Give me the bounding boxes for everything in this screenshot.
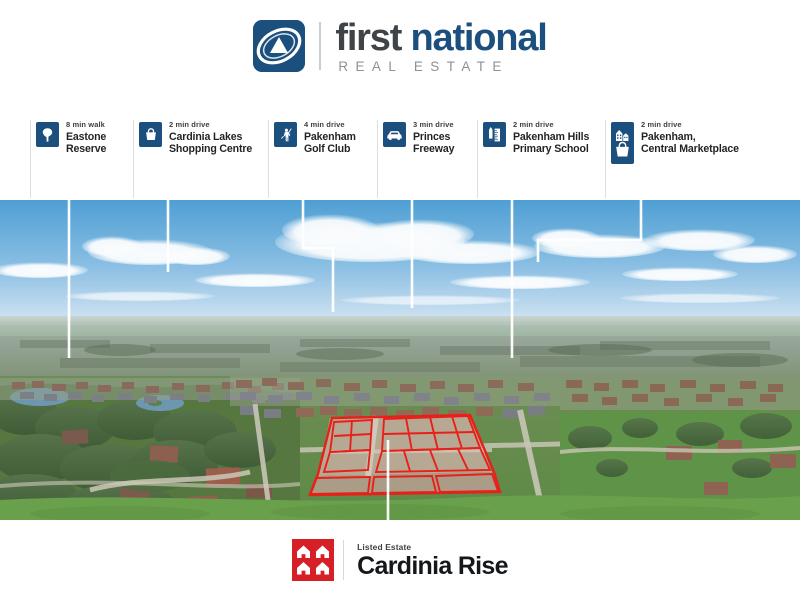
estate-kicker: Listed Estate <box>357 542 508 552</box>
poi-divider <box>268 120 269 198</box>
poi-label: Princes Freeway <box>413 131 454 156</box>
brand-tagline: REAL ESTATE <box>335 60 546 74</box>
poi-text: 2 min drive Pakenham, Central Marketplac… <box>641 112 739 156</box>
brand-name-first: first <box>335 17 410 59</box>
aerial-panorama-photo <box>0 200 800 520</box>
poi-divider <box>377 120 378 198</box>
poi-travel-time: 3 min drive <box>413 120 454 129</box>
poi-text: 2 min drive Pakenham Hills Primary Schoo… <box>513 112 589 156</box>
poi-divider <box>605 120 606 198</box>
poi-travel-time: 2 min drive <box>169 120 252 129</box>
brand-logo-lockup: first national REAL ESTATE <box>253 19 546 74</box>
estate-lockup: Listed Estate Cardinia Rise <box>292 539 508 581</box>
shopping-bag-icon <box>139 122 162 147</box>
poi-divider <box>133 120 134 198</box>
poi-label: Pakenham Golf Club <box>304 131 356 156</box>
golfer-icon <box>274 122 297 147</box>
brand-name-national: national <box>411 17 547 59</box>
poi-label: Cardinia Lakes Shopping Centre <box>169 131 252 156</box>
poi-item-pakenham-golf-club[interactable]: 4 min drive Pakenham Golf Club <box>274 112 356 200</box>
poi-divider <box>30 120 31 198</box>
poi-text: 4 min drive Pakenham Golf Club <box>304 112 356 156</box>
poi-item-cardinia-lakes-shopping-centre[interactable]: 2 min drive Cardinia Lakes Shopping Cent… <box>139 112 252 200</box>
poi-item-princes-freeway[interactable]: 3 min drive Princes Freeway <box>383 112 454 200</box>
marketplace-icon <box>611 122 634 164</box>
brand-header: first national REAL ESTATE <box>0 0 800 92</box>
poi-divider <box>477 120 478 198</box>
estate-text: Listed Estate Cardinia Rise <box>353 542 508 579</box>
car-icon <box>383 122 406 147</box>
brand-name: first national <box>335 19 546 57</box>
poi-travel-time: 2 min drive <box>513 120 589 129</box>
poi-label: Pakenham, Central Marketplace <box>641 131 739 156</box>
poi-item-pakenham-hills-primary-school[interactable]: 2 min drive Pakenham Hills Primary Schoo… <box>483 112 589 200</box>
poi-travel-time: 8 min walk <box>66 120 106 129</box>
poi-text: 2 min drive Cardinia Lakes Shopping Cent… <box>169 112 252 156</box>
poi-text: 8 min walk Eastone Reserve <box>66 112 106 156</box>
poi-travel-time: 4 min drive <box>304 120 356 129</box>
poi-label: Eastone Reserve <box>66 131 106 156</box>
poi-item-pakenham-central-marketplace[interactable]: 2 min drive Pakenham, Central Marketplac… <box>611 112 739 200</box>
listed-estate-footer: Listed Estate Cardinia Rise <box>0 520 800 600</box>
first-national-swirl-triangle-icon <box>253 20 305 72</box>
poi-text: 3 min drive Princes Freeway <box>413 112 454 156</box>
four-houses-icon <box>292 539 334 581</box>
poi-travel-time: 2 min drive <box>641 120 739 129</box>
estate-name: Cardinia Rise <box>357 554 508 579</box>
poi-item-eastone-reserve[interactable]: 8 min walk Eastone Reserve <box>36 112 106 200</box>
estate-divider <box>343 540 344 580</box>
points-of-interest-strip: 8 min walk Eastone Reserve 2 min drive C… <box>0 112 800 200</box>
poi-label: Pakenham Hills Primary School <box>513 131 589 156</box>
brand-wordmark: first national REAL ESTATE <box>335 19 546 74</box>
logo-divider <box>319 22 321 70</box>
ruler-pencil-icon <box>483 122 506 147</box>
tree-icon <box>36 122 59 147</box>
